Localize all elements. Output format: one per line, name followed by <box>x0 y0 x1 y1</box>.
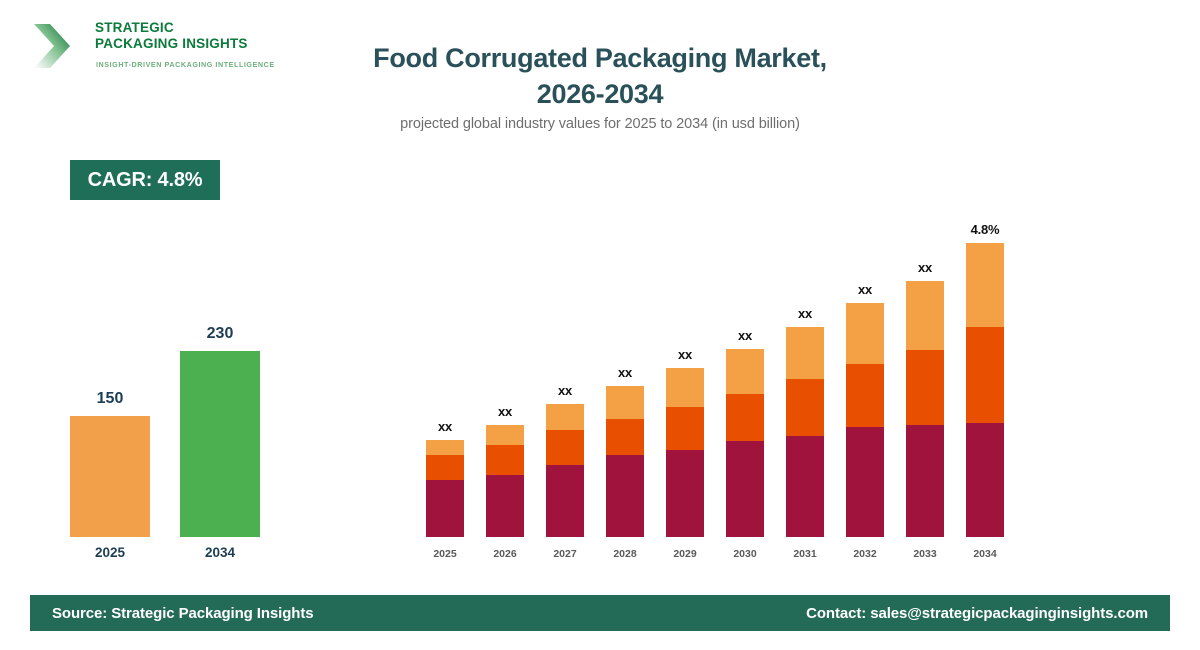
stacked-bar-segment <box>846 303 884 364</box>
stacked-bar-segment <box>966 327 1004 423</box>
stacked-bar-rect <box>906 281 944 537</box>
stacked-bar-group: xx2027 <box>546 223 584 560</box>
page-title: Food Corrugated Packaging Market, 2026-2… <box>300 40 900 112</box>
stacked-bar-segment <box>906 281 944 350</box>
stacked-bar-value-label: xx <box>655 347 715 362</box>
stacked-bar-segment <box>426 480 464 537</box>
stacked-bar-group: xx2030 <box>726 223 764 560</box>
bar-category-label: 2025 <box>70 545 150 560</box>
stacked-bar-rect <box>606 386 644 537</box>
stacked-bar-value-label: xx <box>415 419 475 434</box>
stacked-bar-category-label: 2030 <box>715 548 775 560</box>
stacked-bar-rect <box>426 440 464 537</box>
stacked-bar-category-label: 2031 <box>775 548 835 560</box>
stacked-bar-segment <box>426 455 464 480</box>
stacked-bar-segment <box>726 394 764 441</box>
stacked-bar-rect <box>966 243 1004 537</box>
stacked-bar-segment <box>906 350 944 425</box>
stacked-bar-segment <box>846 364 884 427</box>
stacked-bar-group: xx2026 <box>486 223 524 560</box>
stacked-bar-category-label: 2033 <box>895 548 955 560</box>
stacked-bar-category-label: 2025 <box>415 548 475 560</box>
endpoint-bar-group: 1502025 <box>70 323 150 560</box>
stacked-bar-group: xx2033 <box>906 223 944 560</box>
stacked-bar-segment <box>966 243 1004 327</box>
stacked-bar-segment <box>786 327 824 379</box>
infographic-canvas: STRATEGIC PACKAGING INSIGHTS INSIGHT-DRI… <box>0 0 1200 650</box>
stacked-bar-segment <box>486 475 524 537</box>
stacked-bar-value-label: xx <box>895 260 955 275</box>
footer-contact: Contact: sales@strategicpackaginginsight… <box>806 605 1148 622</box>
logo-line-2: PACKAGING INSIGHTS <box>95 36 248 52</box>
stacked-bar-segment <box>426 440 464 455</box>
logo-line-1: STRATEGIC <box>95 20 248 36</box>
stacked-bar-segment <box>666 407 704 450</box>
stacked-bar-value-label: xx <box>775 306 835 321</box>
footer-bar: Source: Strategic Packaging Insights Con… <box>30 595 1170 631</box>
stacked-bar-group: 4.8%2034 <box>966 223 1004 560</box>
stacked-bar-category-label: 2027 <box>535 548 595 560</box>
stacked-bar-segment <box>906 425 944 537</box>
brand-logo: STRATEGIC PACKAGING INSIGHTS INSIGHT-DRI… <box>30 16 260 78</box>
stacked-bar-segment <box>546 404 584 430</box>
stacked-bar-segment <box>726 349 764 394</box>
stacked-bar-rect <box>786 327 824 537</box>
stacked-bar-segment <box>486 445 524 475</box>
stacked-bar-group: xx2025 <box>426 223 464 560</box>
bar-category-label: 2034 <box>180 545 260 560</box>
logo-wordmark: STRATEGIC PACKAGING INSIGHTS <box>95 20 248 51</box>
stacked-bar-group: xx2031 <box>786 223 824 560</box>
stacked-bar-segment <box>546 465 584 537</box>
stacked-bar-group: xx2028 <box>606 223 644 560</box>
chart-title-line-1: Food Corrugated Packaging Market, <box>300 40 900 76</box>
stacked-bar-segment <box>666 450 704 537</box>
chart-title-line-2: 2026-2034 <box>300 76 900 112</box>
bar-rect <box>70 416 150 537</box>
stacked-bar-segment <box>606 386 644 419</box>
stacked-bar-group: xx2029 <box>666 223 704 560</box>
stacked-bar-rect <box>846 303 884 537</box>
stacked-bar-category-label: 2029 <box>655 548 715 560</box>
stacked-bar-category-label: 2026 <box>475 548 535 560</box>
stacked-bar-category-label: 2028 <box>595 548 655 560</box>
stacked-bar-segment <box>606 419 644 455</box>
stacked-bar-value-label: 4.8% <box>955 222 1015 237</box>
stacked-bar-category-label: 2034 <box>955 548 1015 560</box>
stacked-bar-segment <box>606 455 644 537</box>
endpoint-bar-group: 2302034 <box>180 323 260 560</box>
stacked-bar-rect <box>546 404 584 537</box>
yearly-stacked-forecast-chart: xx2025xx2026xx2027xx2028xx2029xx2030xx20… <box>415 200 1015 560</box>
stacked-bar-segment <box>786 379 824 436</box>
stacked-bar-segment <box>786 436 824 537</box>
stacked-bar-rect <box>486 425 524 537</box>
stacked-bar-rect <box>726 349 764 537</box>
footer-source: Source: Strategic Packaging Insights <box>52 605 313 622</box>
chart-subtitle: projected global industry values for 202… <box>300 116 900 132</box>
stacked-bar-value-label: xx <box>835 282 895 297</box>
stacked-bar-group: xx2032 <box>846 223 884 560</box>
bar-value-label: 230 <box>180 325 260 343</box>
stacked-bar-segment <box>726 441 764 537</box>
endpoint-comparison-chart: 15020252302034 <box>60 300 280 560</box>
stacked-bar-segment <box>546 430 584 465</box>
stacked-bar-segment <box>846 427 884 537</box>
bar-rect <box>180 351 260 537</box>
stacked-bar-value-label: xx <box>595 365 655 380</box>
stacked-bar-value-label: xx <box>535 383 595 398</box>
cagr-badge: CAGR: 4.8% <box>70 160 220 200</box>
stacked-bar-rect <box>666 368 704 537</box>
chart-title: Food Corrugated Packaging Market, 2026-2… <box>300 40 900 112</box>
stacked-bar-category-label: 2032 <box>835 548 895 560</box>
stacked-bar-value-label: xx <box>715 328 775 343</box>
chevron-right-icon <box>32 18 76 74</box>
logo-tagline: INSIGHT-DRIVEN PACKAGING INTELLIGENCE <box>96 60 275 69</box>
stacked-bar-segment <box>666 368 704 407</box>
stacked-bar-segment <box>966 423 1004 537</box>
stacked-bar-segment <box>486 425 524 445</box>
bar-value-label: 150 <box>70 390 150 408</box>
stacked-bar-value-label: xx <box>475 404 535 419</box>
